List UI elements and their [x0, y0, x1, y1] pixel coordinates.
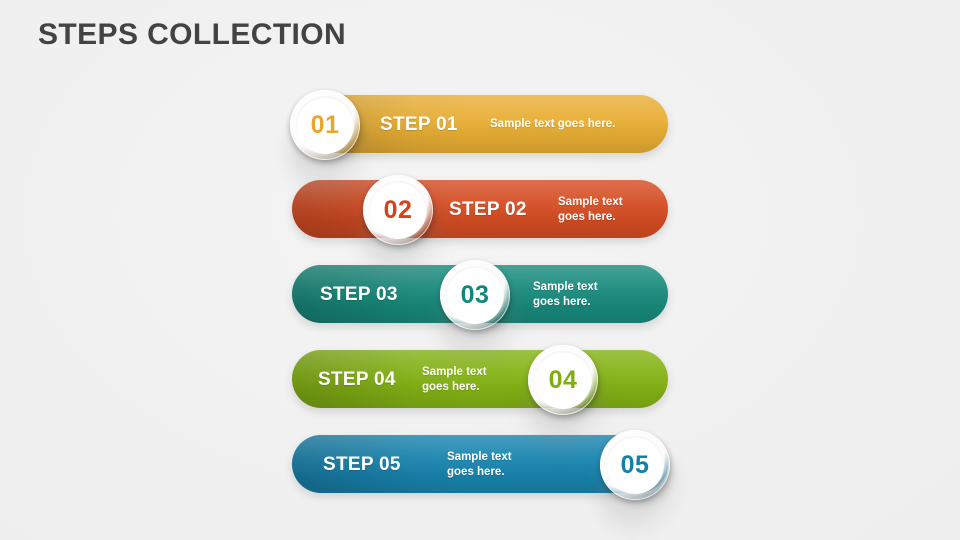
step-description: Sample text goes here. [558, 195, 658, 224]
badge-number: 04 [549, 368, 578, 393]
step-number-badge[interactable]: 04 [528, 345, 598, 415]
step-label: STEP 03 [320, 285, 398, 304]
badge-number: 05 [621, 453, 650, 478]
step-label: STEP 02 [449, 200, 527, 219]
badge-ring: 04 [528, 345, 598, 415]
step-number-badge[interactable]: 03 [440, 260, 510, 330]
badge-face: 02 [369, 181, 427, 239]
badge-ring: 02 [363, 175, 433, 245]
step-row[interactable]: STEP 03Sample text goes here.03 [0, 265, 960, 323]
badge-ring: 01 [290, 90, 360, 160]
step-number-badge[interactable]: 01 [290, 90, 360, 160]
slide-canvas: STEPS COLLECTION STEP 01Sample text goes… [0, 0, 960, 540]
step-label: STEP 04 [318, 370, 396, 389]
step-label: STEP 05 [323, 455, 401, 474]
step-description: Sample text goes here. [490, 117, 660, 132]
step-row[interactable]: STEP 04Sample text goes here.04 [0, 350, 960, 408]
step-number-badge[interactable]: 02 [363, 175, 433, 245]
steps-collection-list: STEP 01Sample text goes here.01STEP 02Sa… [0, 0, 960, 540]
badge-number: 01 [311, 113, 340, 138]
badge-ring: 03 [440, 260, 510, 330]
badge-ring: 05 [600, 430, 670, 500]
step-description: Sample text goes here. [533, 280, 633, 309]
badge-face: 01 [296, 96, 354, 154]
step-row[interactable]: STEP 02Sample text goes here.02 [0, 180, 960, 238]
badge-number: 02 [384, 198, 413, 223]
badge-face: 05 [606, 436, 664, 494]
step-row[interactable]: STEP 05Sample text goes here.05 [0, 435, 960, 493]
step-row[interactable]: STEP 01Sample text goes here.01 [0, 95, 960, 153]
step-label: STEP 01 [380, 115, 458, 134]
step-number-badge[interactable]: 05 [600, 430, 670, 500]
badge-number: 03 [461, 283, 490, 308]
step-description: Sample text goes here. [422, 365, 522, 394]
badge-face: 04 [534, 351, 592, 409]
badge-face: 03 [446, 266, 504, 324]
step-description: Sample text goes here. [447, 450, 547, 479]
